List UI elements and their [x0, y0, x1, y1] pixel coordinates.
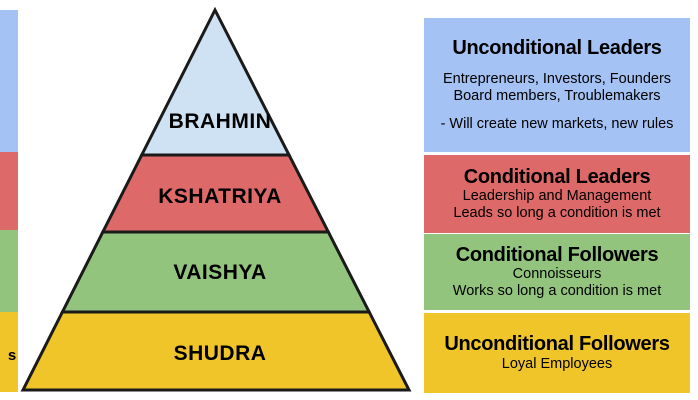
pyramid-tier-label-vaishya: VAISHYA [173, 261, 266, 284]
panel-line: Leadership and Management [463, 188, 652, 205]
panel-title: Unconditional Followers [444, 333, 669, 355]
description-panel-2[interactable]: Conditional LeadersLeadership and Manage… [424, 155, 690, 233]
panel-title: Conditional Followers [456, 244, 659, 266]
pyramid-tier-label-shudra: SHUDRA [174, 342, 267, 365]
description-panel-3[interactable]: Conditional FollowersConnoisseursWorks s… [424, 234, 690, 310]
description-panel-4[interactable]: Unconditional FollowersLoyal Employees [424, 313, 690, 393]
panel-line: Entrepreneurs, Investors, Founders [443, 71, 671, 88]
panel-note: - Will create new markets, new rules [441, 116, 674, 133]
panel-title: Unconditional Leaders [452, 37, 661, 59]
panel-line: Board members, Troublemakers [453, 88, 660, 105]
panel-line: Works so long a condition is met [453, 283, 661, 300]
panel-line: Connoisseurs [513, 266, 602, 283]
pyramid-svg: BRAHMINKSHATRIYAVAISHYASHUDRA [0, 0, 430, 400]
pyramid-tier-brahmin[interactable] [142, 10, 289, 155]
panel-line: Leads so long a condition is met [453, 205, 660, 222]
panel-line: Loyal Employees [502, 356, 612, 373]
description-panel-1[interactable]: Unconditional LeadersEntrepreneurs, Inve… [424, 18, 690, 152]
description-panel-list: Unconditional LeadersEntrepreneurs, Inve… [424, 0, 698, 400]
pyramid-tier-label-brahmin: BRAHMIN [169, 110, 272, 133]
pyramid-tier-label-kshatriya: KSHATRIYA [158, 185, 282, 208]
panel-title: Conditional Leaders [464, 166, 651, 188]
caste-pyramid-diagram: BRAHMINKSHATRIYAVAISHYASHUDRA [0, 0, 430, 400]
